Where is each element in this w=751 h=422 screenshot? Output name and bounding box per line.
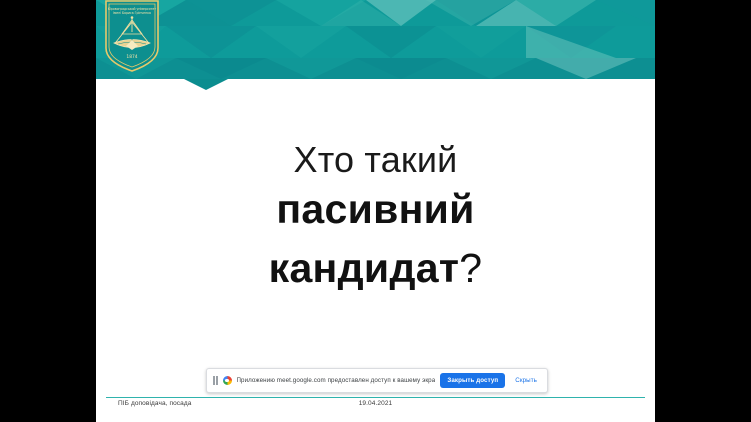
pause-icon[interactable] — [213, 376, 218, 385]
banner-pattern — [96, 0, 655, 79]
slide-headline: Хто такий пасивний кандидат? — [96, 140, 655, 298]
chrome-icon — [223, 376, 232, 385]
footer-date: 19.04.2021 — [96, 400, 655, 407]
letterbox-left — [0, 0, 96, 422]
footer-divider — [106, 397, 645, 398]
headline-line-2: пасивний — [96, 180, 655, 239]
letterbox-right — [655, 0, 751, 422]
presentation-screen: Кіровоградський університет імені Бориса… — [0, 0, 751, 422]
svg-text:імені Бориса Грінченка: імені Бориса Грінченка — [113, 11, 151, 15]
svg-text:1874: 1874 — [126, 54, 137, 60]
slide-footer: ПІБ доповідача, посада 19.04.2021 — [96, 400, 655, 422]
headline-line-3: кандидат? — [96, 239, 655, 298]
slide-canvas: Кіровоградський університет імені Бориса… — [96, 0, 655, 422]
headline-question-mark: ? — [459, 245, 482, 291]
hide-notification-link[interactable]: Скрыть — [510, 377, 542, 384]
university-crest-icon: Кіровоградський університет імені Бориса… — [104, 0, 160, 72]
share-message: Приложению meet.google.com предоставлен … — [237, 377, 436, 384]
headline-line-3-text: кандидат — [269, 245, 460, 291]
slide-header-banner: Кіровоградський університет імені Бориса… — [96, 0, 655, 79]
banner-notch — [184, 79, 228, 90]
screen-share-notification[interactable]: Приложению meet.google.com предоставлен … — [206, 368, 548, 393]
headline-line-1: Хто такий — [96, 140, 655, 180]
stop-sharing-button[interactable]: Закрыть доступ — [440, 373, 505, 388]
